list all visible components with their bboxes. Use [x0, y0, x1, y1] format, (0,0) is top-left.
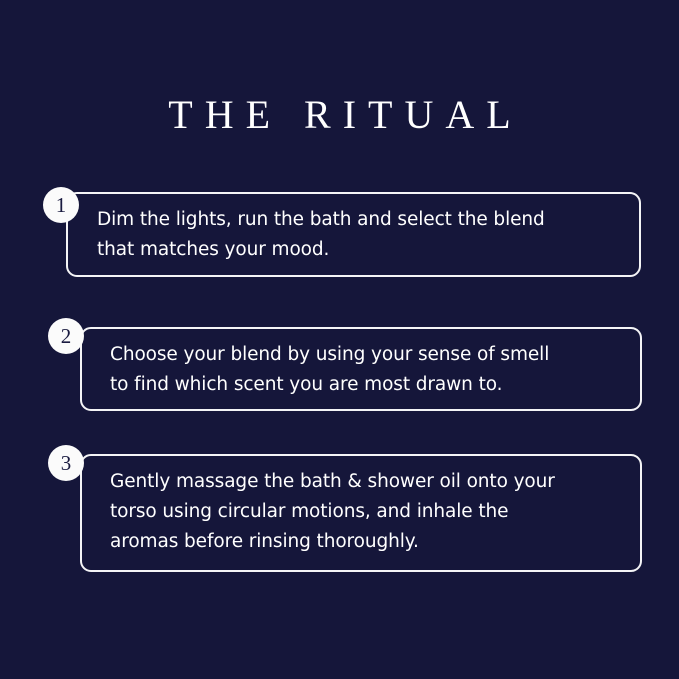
ritual-instruction-card: THE RITUAL 1 Dim the lights, run the bat…: [0, 0, 679, 679]
steps-list: 1 Dim the lights, run the bath and selec…: [0, 0, 679, 679]
step-description: Dim the lights, run the bath and select …: [97, 205, 637, 265]
step-number-badge: 2: [48, 318, 84, 354]
step-description: Gently massage the bath & shower oil ont…: [110, 467, 650, 557]
step-number-badge: 3: [48, 445, 84, 481]
step-description: Choose your blend by using your sense of…: [110, 340, 640, 400]
step-number-badge: 1: [43, 187, 79, 223]
